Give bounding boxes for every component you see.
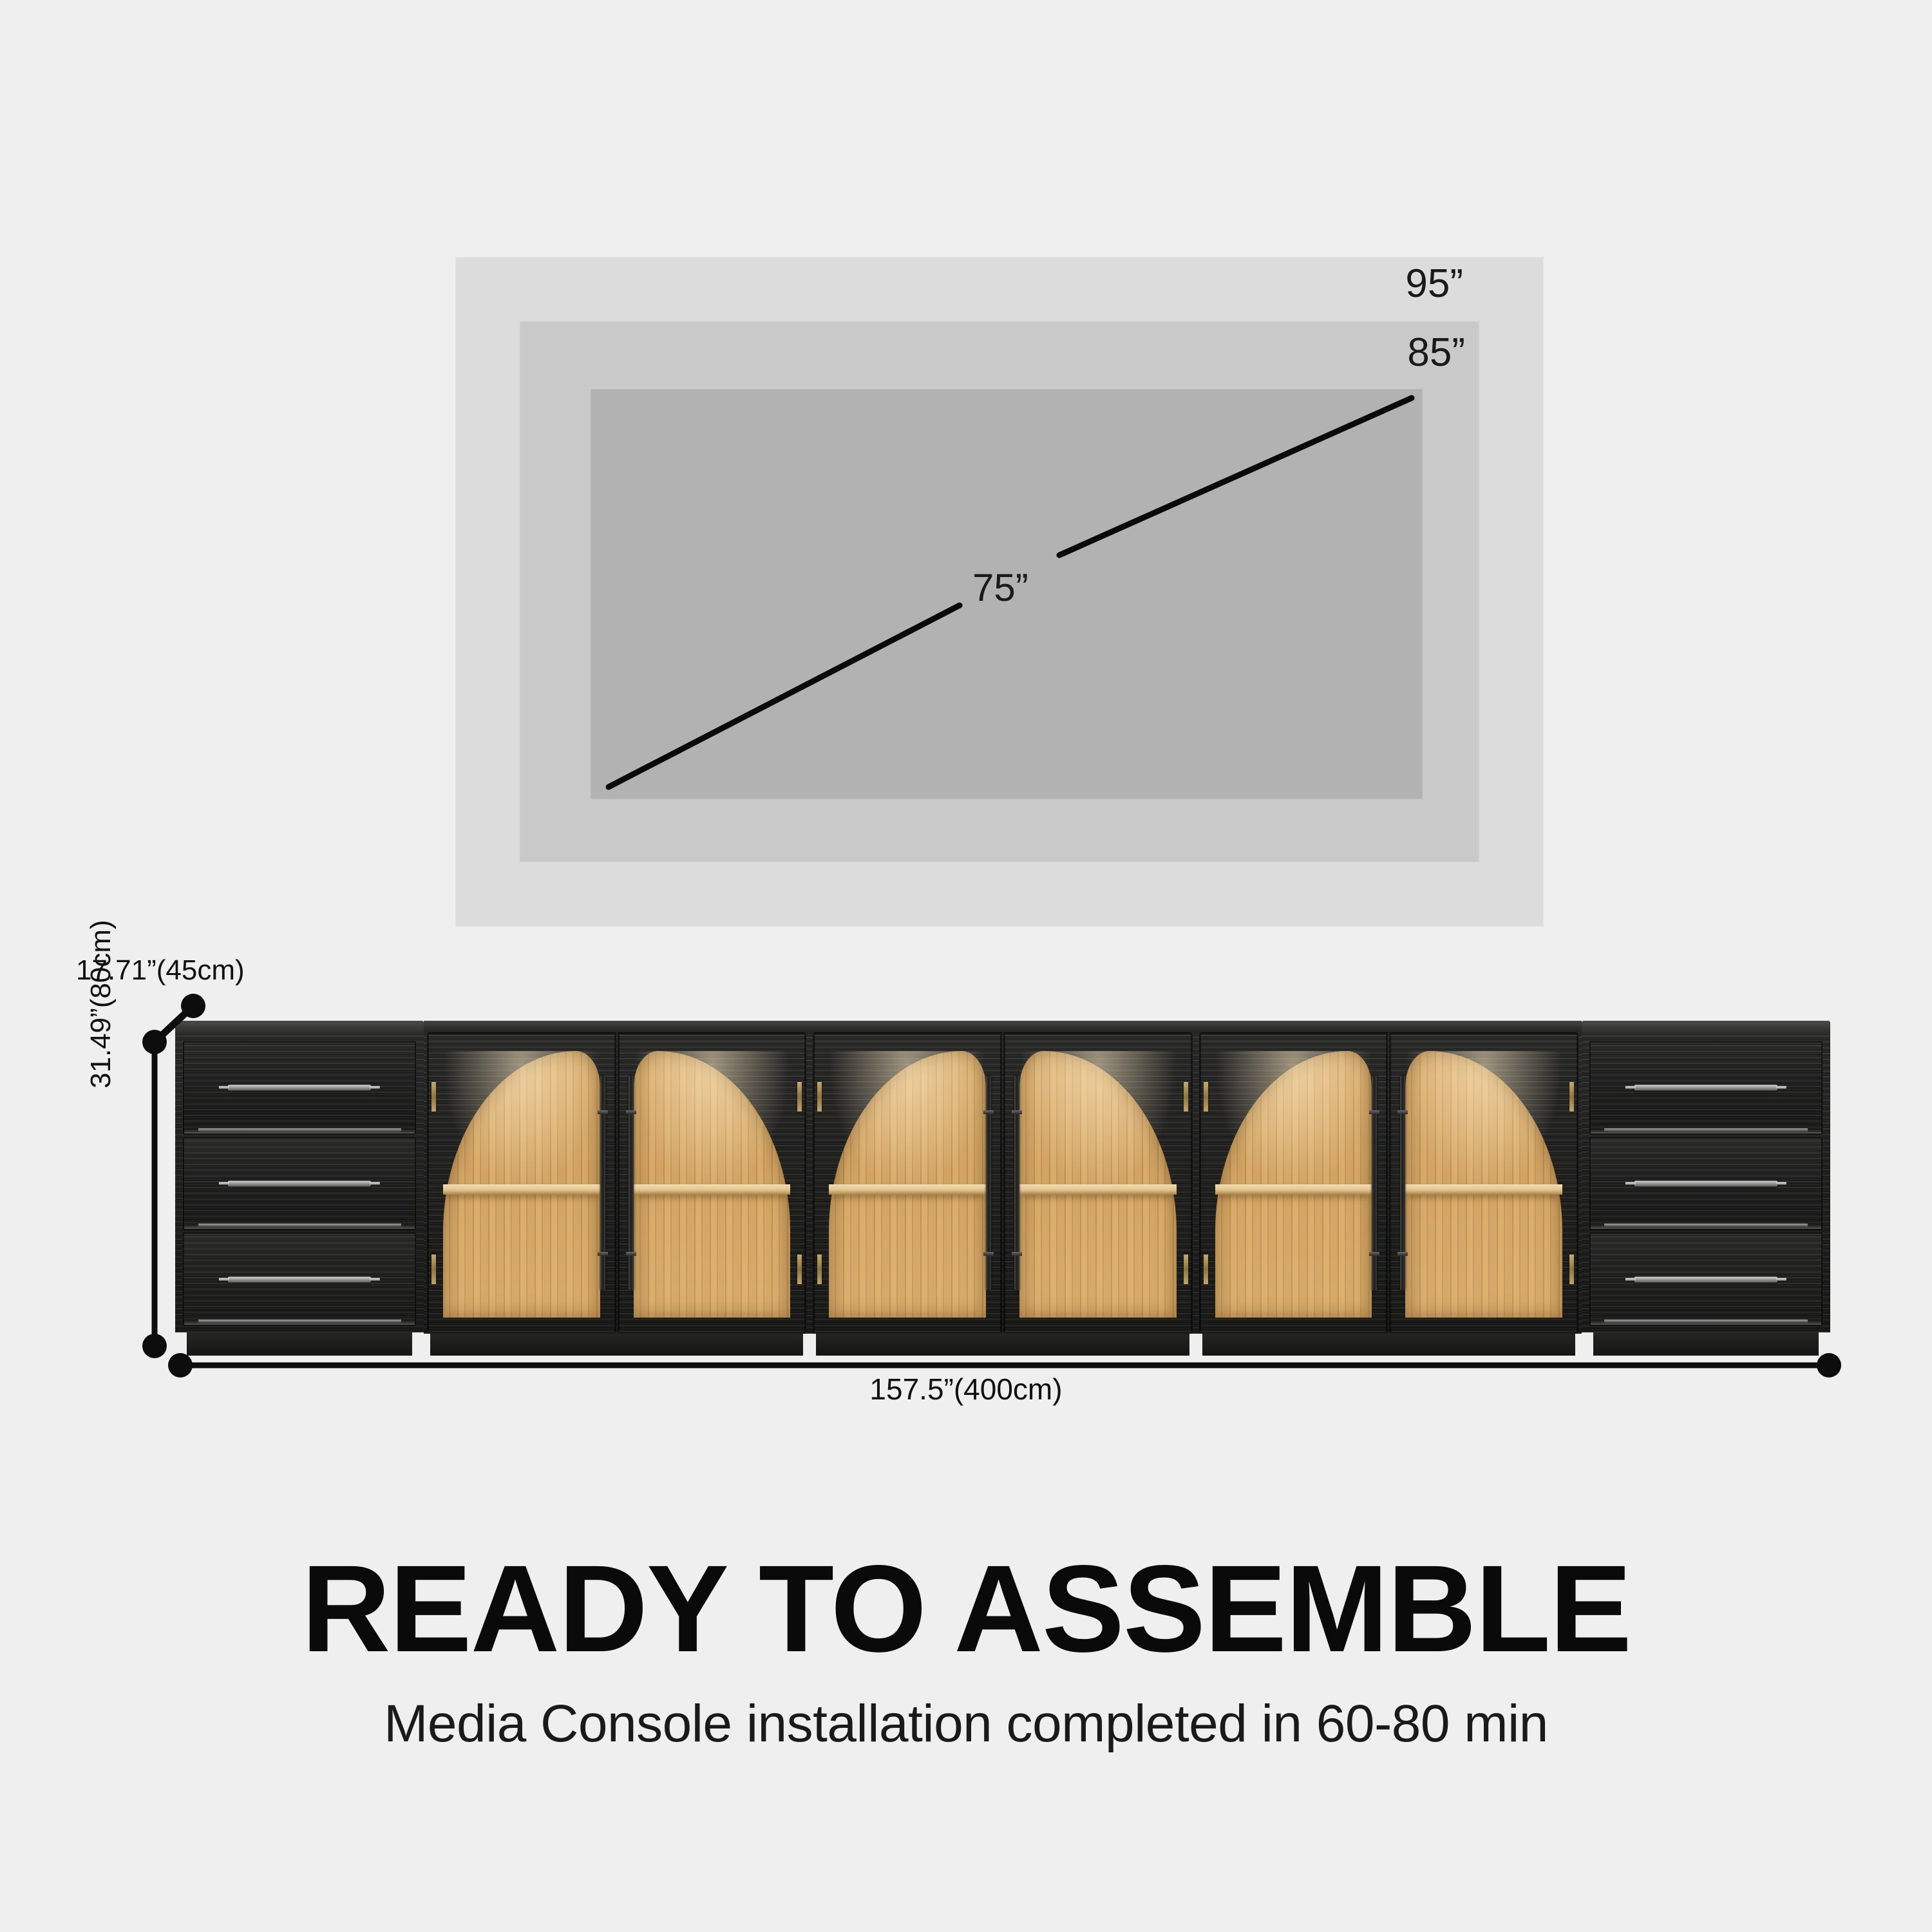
drawer-handle-icon bbox=[1634, 1085, 1777, 1091]
infographic-canvas: 95” 85” 75” bbox=[0, 0, 1932, 1932]
arched-glass-door bbox=[1199, 1032, 1388, 1334]
hinge-icon bbox=[1184, 1255, 1188, 1284]
arched-cabinet-1 bbox=[424, 1021, 810, 1356]
arched-glass-door bbox=[813, 1032, 1002, 1334]
interior-shelf bbox=[1019, 1184, 1177, 1195]
drawer bbox=[183, 1041, 416, 1135]
door-handle-icon bbox=[1014, 1076, 1019, 1291]
glass-panel bbox=[634, 1051, 791, 1318]
width-dimension-label: 157.5”(400cm) bbox=[869, 1372, 1062, 1406]
arched-door-pair bbox=[424, 1032, 810, 1334]
subheadline: Media Console installation completed in … bbox=[0, 1694, 1932, 1754]
arched-cabinet-3 bbox=[1196, 1021, 1582, 1356]
glass-panel bbox=[443, 1051, 600, 1318]
hinge-icon bbox=[1204, 1082, 1208, 1112]
interior-glow bbox=[1405, 1051, 1562, 1189]
drawer-stack bbox=[1582, 1035, 1830, 1332]
interior-glow bbox=[1215, 1051, 1372, 1189]
drawer bbox=[1589, 1233, 1823, 1326]
door-handle-icon bbox=[600, 1076, 605, 1291]
glass-panel bbox=[1405, 1051, 1562, 1318]
hinge-icon bbox=[1204, 1255, 1208, 1284]
headline: READY TO ASSEMBLE bbox=[0, 1546, 1932, 1672]
cabinet-plinth bbox=[187, 1332, 412, 1356]
hinge-icon bbox=[431, 1082, 436, 1112]
glass-panel bbox=[829, 1051, 986, 1318]
height-dimension-label: 31.49”(80cm) bbox=[85, 920, 117, 1088]
arched-glass-door bbox=[618, 1032, 807, 1334]
cabinet-plinth bbox=[816, 1334, 1189, 1356]
door-handle-icon bbox=[629, 1076, 634, 1291]
drawer bbox=[1589, 1041, 1823, 1135]
media-console bbox=[175, 1021, 1830, 1356]
arched-glass-door bbox=[1003, 1032, 1193, 1334]
arched-door-pair bbox=[810, 1032, 1195, 1334]
drawer-stack bbox=[175, 1035, 424, 1332]
door-handle-icon bbox=[1400, 1076, 1405, 1291]
cabinet-plinth bbox=[1593, 1332, 1819, 1356]
arched-glass-door bbox=[427, 1032, 616, 1334]
drawer bbox=[183, 1137, 416, 1231]
cabinet-plinth bbox=[430, 1334, 803, 1356]
drawer-handle-icon bbox=[228, 1276, 371, 1282]
interior-shelf bbox=[443, 1184, 600, 1195]
drawer-handle-icon bbox=[228, 1181, 371, 1187]
door-handle-icon bbox=[986, 1076, 991, 1291]
arched-glass-door bbox=[1389, 1032, 1578, 1334]
cabinet-plinth bbox=[1202, 1334, 1575, 1356]
hinge-icon bbox=[797, 1255, 802, 1284]
interior-shelf bbox=[634, 1184, 791, 1195]
hinge-icon bbox=[817, 1082, 822, 1112]
interior-glow bbox=[1019, 1051, 1177, 1189]
drawer-handle-icon bbox=[1634, 1276, 1777, 1282]
tv-size-diagram: 95” 85” 75” bbox=[0, 0, 1932, 966]
door-handle-icon bbox=[1372, 1076, 1377, 1291]
interior-glow bbox=[443, 1051, 600, 1189]
arched-door-pair bbox=[1196, 1032, 1582, 1334]
drawer-cabinet-right bbox=[1582, 1021, 1830, 1356]
glass-panel bbox=[1215, 1051, 1372, 1318]
interior-glow bbox=[829, 1051, 986, 1189]
hinge-icon bbox=[1569, 1255, 1574, 1284]
interior-glow bbox=[634, 1051, 791, 1189]
tv-label-75: 75” bbox=[972, 565, 1028, 610]
hinge-icon bbox=[431, 1255, 436, 1284]
arched-cabinet-2 bbox=[810, 1021, 1195, 1356]
tv-label-95: 95” bbox=[1405, 261, 1463, 307]
drawer-handle-icon bbox=[228, 1085, 371, 1091]
hinge-icon bbox=[817, 1255, 822, 1284]
hinge-icon bbox=[1184, 1082, 1188, 1112]
drawer-handle-icon bbox=[1634, 1181, 1777, 1187]
footer-text-block: READY TO ASSEMBLE Media Console installa… bbox=[0, 1546, 1932, 1754]
glass-panel bbox=[1019, 1051, 1177, 1318]
drawer-cabinet-left bbox=[175, 1021, 424, 1356]
drawer bbox=[1589, 1137, 1823, 1231]
interior-shelf bbox=[1215, 1184, 1372, 1195]
interior-shelf bbox=[829, 1184, 986, 1195]
drawer bbox=[183, 1233, 416, 1326]
hinge-icon bbox=[1569, 1082, 1574, 1112]
interior-shelf bbox=[1405, 1184, 1562, 1195]
hinge-icon bbox=[797, 1082, 802, 1112]
tv-label-85: 85” bbox=[1407, 330, 1465, 375]
